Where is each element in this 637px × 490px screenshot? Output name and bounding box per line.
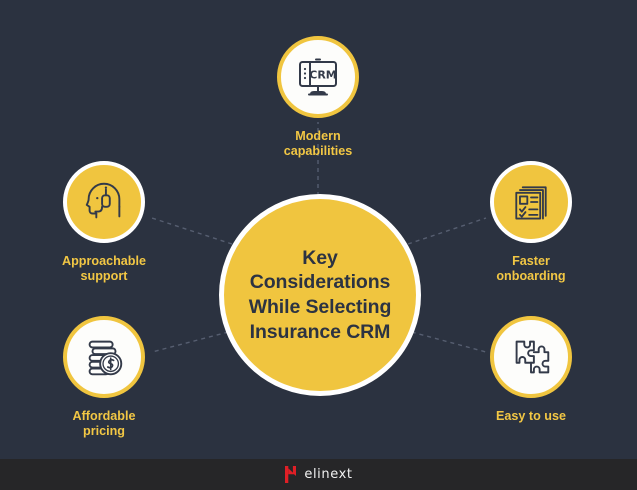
node-approachable-support[interactable]: Approachable support <box>42 161 166 285</box>
hub-title-line-2: Considerations <box>250 271 391 293</box>
node-modern-capabilities[interactable]: CRM Modern capabilities <box>256 36 380 160</box>
coins-dollar-icon <box>80 333 128 381</box>
hub-title-line-4: Insurance CRM <box>250 321 391 343</box>
node-support-circle[interactable] <box>63 161 145 243</box>
node-affordable-pricing[interactable]: Affordable pricing <box>42 316 166 440</box>
node-onboarding-label: Faster onboarding <box>496 254 565 285</box>
footer-bar: elinext <box>0 459 637 490</box>
puzzle-pieces-icon <box>507 333 555 381</box>
node-easy-to-use[interactable]: Easy to use <box>469 316 593 424</box>
node-faster-onboarding[interactable]: Faster onboarding <box>469 161 593 285</box>
node-modern-label: Modern capabilities <box>284 129 353 160</box>
crm-monitor-icon: CRM <box>293 52 343 102</box>
headset-support-icon <box>80 178 128 226</box>
svg-text:CRM: CRM <box>309 69 337 82</box>
checklist-documents-icon <box>508 179 554 225</box>
footer-logo-text: elinext <box>304 467 352 482</box>
hub-title: KeyConsiderationsWhile SelectingInsuranc… <box>239 246 402 345</box>
node-support-label: Approachable support <box>62 254 146 285</box>
node-pricing-circle[interactable] <box>63 316 145 398</box>
node-easy-circle[interactable] <box>490 316 572 398</box>
elinext-n-mark-icon <box>284 465 297 484</box>
node-easy-label: Easy to use <box>496 409 566 424</box>
hub-title-line-1: Key <box>302 247 337 269</box>
central-hub: KeyConsiderationsWhile SelectingInsuranc… <box>219 194 421 396</box>
infographic-canvas: KeyConsiderationsWhile SelectingInsuranc… <box>0 0 637 490</box>
node-pricing-label: Affordable pricing <box>73 409 136 440</box>
hub-title-line-3: While Selecting <box>249 296 392 318</box>
footer-logo[interactable]: elinext <box>284 465 352 484</box>
node-modern-circle[interactable]: CRM <box>277 36 359 118</box>
node-onboarding-circle[interactable] <box>490 161 572 243</box>
